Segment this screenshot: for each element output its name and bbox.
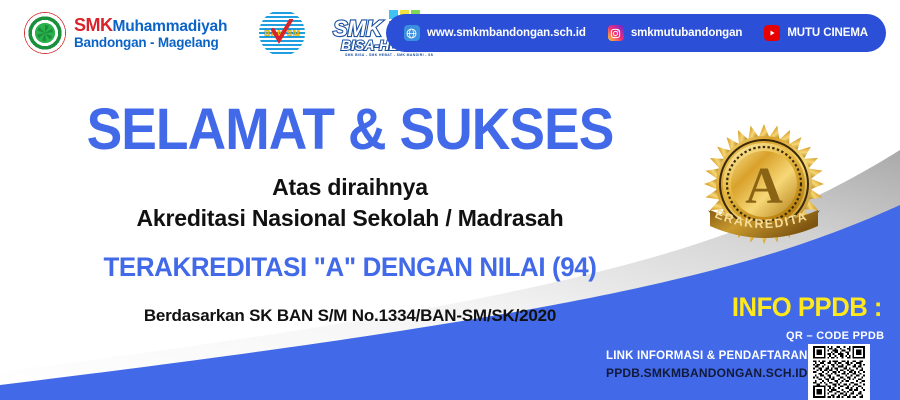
youtube-label: MUTU CINEMA	[787, 27, 868, 39]
gold-accreditation-seal-icon: A TERAKREDITASI	[694, 122, 834, 252]
headline: SELAMAT & SUKSES	[28, 96, 672, 163]
svg-text:A: A	[745, 158, 783, 215]
qr-code-ppdb-icon[interactable]	[808, 344, 870, 400]
banner-header: SMKMuhammadiyah Bandongan - Magelang BAN…	[0, 0, 900, 66]
smk-muhammadiyah-crest-icon	[24, 12, 66, 54]
website-icon	[404, 25, 420, 41]
school-logo-text: SMKMuhammadiyah Bandongan - Magelang	[74, 16, 227, 50]
instagram-label: smkmutubandongan	[631, 27, 743, 39]
ban-sm-logo-icon: BAN SM	[259, 10, 305, 56]
ppdb-link-label: LINK INFORMASI & PENDAFTARAN	[606, 350, 808, 362]
school-name-prefix: SMK	[74, 15, 113, 35]
social-link-instagram[interactable]: smkmutubandongan	[608, 25, 743, 41]
website-label: www.smkmbandongan.sch.id	[427, 27, 586, 39]
school-name-line: SMKMuhammadiyah	[74, 16, 227, 35]
ban-sm-checkmark-icon	[271, 19, 293, 45]
decree-reference: Berdasarkan SK BAN S/M No.1334/BAN-SM/SK…	[0, 306, 700, 326]
school-logo: SMKMuhammadiyah Bandongan - Magelang	[24, 12, 227, 54]
social-links-pill: www.smkmbandongan.sch.id smkmutubandonga…	[386, 14, 886, 52]
subline-1: Atas diraihnya	[0, 174, 700, 201]
qr-code-label: QR – CODE PPDB	[786, 330, 884, 342]
info-ppdb-title: INFO PPDB :	[732, 292, 882, 323]
accreditation-banner: SMKMuhammadiyah Bandongan - Magelang BAN…	[0, 0, 900, 400]
school-location: Bandongan - Magelang	[74, 36, 227, 50]
ppdb-link-url[interactable]: PPDB.SMKMBANDONGAN.SCH.ID	[606, 366, 808, 380]
social-link-website[interactable]: www.smkmbandongan.sch.id	[404, 25, 586, 41]
youtube-icon	[764, 25, 780, 41]
instagram-icon	[608, 25, 624, 41]
svg-text:SMK BISA - SMK HEBAT - SMK MAN: SMK BISA - SMK HEBAT - SMK MANDIRI - SMK…	[345, 53, 433, 57]
accreditation-result: TERAKREDITASI "A" DENGAN NILAI (94)	[14, 252, 686, 283]
school-name-main: Muhammadiyah	[113, 18, 228, 35]
subline-2: Akreditasi Nasional Sekolah / Madrasah	[0, 205, 700, 232]
social-link-youtube[interactable]: MUTU CINEMA	[764, 25, 868, 41]
